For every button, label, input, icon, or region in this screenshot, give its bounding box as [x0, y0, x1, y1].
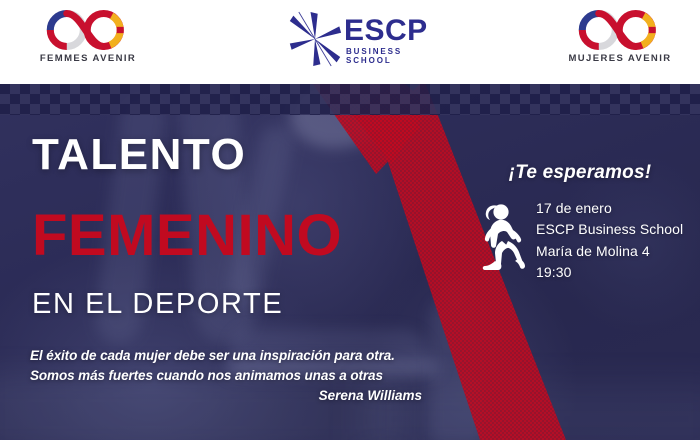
logo-escp: ESCP BUSINESS SCHOOL — [288, 10, 438, 72]
event-address: María de Molina 4 — [536, 241, 683, 262]
quote-author: Serena Williams — [30, 386, 422, 406]
page-title-line-1: TALENTO — [32, 130, 246, 180]
banner-hero: TALENTO FEMENINO EN EL DEPORTE El éxito … — [0, 84, 700, 440]
page-title-line-3: EN EL DEPORTE — [32, 288, 283, 321]
logo-mujeres-avenir-caption: MUJERES AVENIR — [540, 53, 700, 64]
event-details-block: ¡Te esperamos! — [474, 162, 686, 283]
quote-line-2: Somos más fuertes cuando nos animamos un… — [30, 366, 422, 386]
quote-block: El éxito de cada mujer debe ser una insp… — [30, 346, 422, 406]
logo-mujeres-avenir: MUJERES AVENIR — [540, 8, 700, 64]
event-poster: FEMMES AVENIR — [0, 0, 700, 440]
event-time: 19:30 — [536, 262, 683, 283]
page-title-line-2: FEMENINO — [32, 202, 342, 269]
event-venue: ESCP Business School — [536, 219, 683, 240]
escp-star-icon — [288, 10, 342, 73]
event-detail-lines: 17 de enero ESCP Business School María d… — [536, 198, 683, 283]
infinity-logo-icon — [40, 8, 136, 52]
logo-femmes-avenir: FEMMES AVENIR — [8, 8, 168, 64]
escp-wordmark: ESCP — [344, 17, 438, 46]
infinity-logo-icon — [572, 8, 668, 52]
running-woman-icon — [474, 201, 528, 280]
checkerboard-pattern — [0, 84, 700, 115]
background-photo-bottle — [444, 282, 470, 308]
header-logo-bar: FEMMES AVENIR — [0, 0, 700, 84]
escp-tagline: BUSINESS SCHOOL — [346, 47, 438, 65]
logo-femmes-avenir-caption: FEMMES AVENIR — [8, 53, 168, 64]
event-date: 17 de enero — [536, 198, 683, 219]
quote-line-1: El éxito de cada mujer debe ser una insp… — [30, 346, 422, 366]
event-headline: ¡Te esperamos! — [474, 162, 686, 184]
